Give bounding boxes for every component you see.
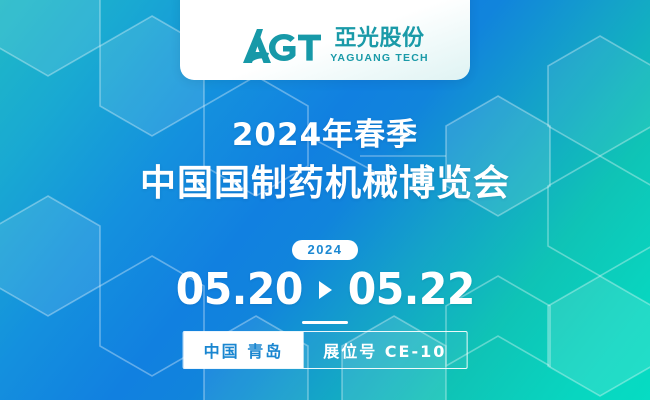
headline-event-title: 中国国制药机械博览会 — [0, 163, 650, 204]
date-underline-rule — [302, 321, 348, 324]
headline-season: 2024年春季 — [0, 118, 650, 152]
exhibition-promo-banner: 亞光股份 YAGUANG TECH 2024年春季 中国国制药机械博览会 202… — [0, 0, 650, 400]
event-end-date: 05.22 — [347, 268, 474, 312]
triangle-right-icon — [319, 281, 332, 299]
event-info-bar: 中国 青岛 展位号 CE-10 — [183, 331, 468, 369]
headline-block: 2024年春季 中国国制药机械博览会 — [0, 118, 650, 204]
event-location: 中国 青岛 — [184, 332, 304, 368]
logo-company-name-cn: 亞光股份 — [334, 28, 424, 50]
event-date-block: 2024 05.20 05.22 — [0, 240, 650, 324]
event-booth-number: 展位号 CE-10 — [303, 332, 466, 368]
event-date-range: 05.20 05.22 — [171, 268, 479, 312]
event-year-badge: 2024 — [292, 240, 359, 260]
company-logo-plate: 亞光股份 YAGUANG TECH — [180, 0, 470, 80]
logo-company-name-en: YAGUANG TECH — [330, 53, 429, 64]
agt-logo-mark — [221, 26, 321, 66]
event-start-date: 05.20 — [176, 268, 303, 312]
